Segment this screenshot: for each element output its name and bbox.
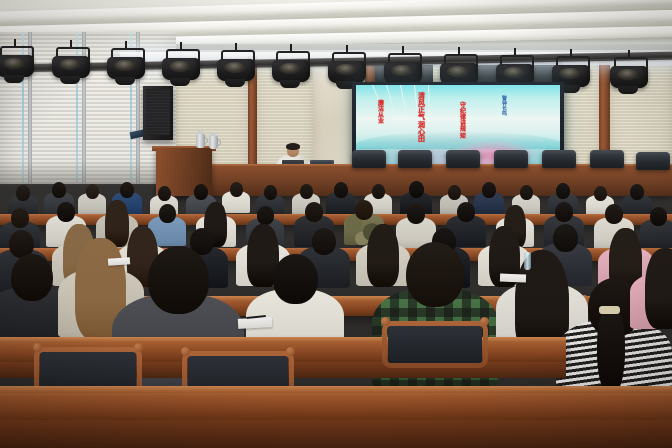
desk-row	[0, 390, 672, 424]
screen-text-column-4: 警 钟 长 鸣	[502, 97, 507, 117]
attendee-head	[594, 186, 607, 201]
hair-tie	[599, 306, 620, 314]
attendee-head	[406, 242, 464, 307]
screen-text-column-1: 廉 洁 从 业	[378, 101, 384, 125]
attendee-head	[52, 182, 66, 198]
attendee-head	[409, 181, 424, 198]
thermos-flask	[196, 134, 205, 148]
notebook	[238, 317, 272, 329]
attendee-head	[482, 182, 496, 198]
attendee-head	[264, 185, 277, 200]
audience-chair	[388, 326, 482, 366]
notebook	[500, 274, 526, 283]
conference-hall-photo: 廉 洁 从 业 清 风 正 气 润 心 田 守 纪 律 讲 规 矩 警 钟 长 …	[0, 0, 672, 448]
blinds-shadow	[0, 160, 176, 186]
screen-text-column-3: 守 纪 律 讲 规 矩	[460, 103, 466, 140]
executive-chair	[446, 150, 480, 168]
speaker-grille	[146, 89, 170, 135]
attendee-ponytail	[597, 308, 625, 397]
attendee-head	[230, 182, 243, 197]
executive-chair	[494, 150, 528, 168]
attendee-head	[650, 207, 667, 226]
attendee-head	[148, 246, 209, 314]
attendee-head	[556, 183, 570, 199]
attendee-head	[355, 200, 373, 220]
attendee-head	[16, 185, 30, 201]
attendee-long-hair	[645, 248, 672, 329]
attendee-head	[57, 202, 75, 222]
attendee-head	[630, 184, 644, 200]
executive-chair	[542, 150, 576, 168]
desk-edge	[0, 386, 672, 393]
attendee-head	[457, 202, 475, 222]
attendee-head	[300, 184, 313, 199]
attendee-head	[120, 182, 134, 198]
attendee-head	[312, 228, 336, 255]
attendee-head	[305, 202, 323, 222]
attendee-head	[194, 184, 208, 200]
attendee-head	[86, 184, 99, 199]
attendee-long-hair	[367, 224, 399, 287]
attendee-head	[158, 186, 171, 201]
attendee-head	[11, 208, 29, 228]
attendee-head	[407, 204, 425, 224]
attendee-head	[273, 254, 318, 304]
attendee-head	[605, 204, 623, 224]
attendee-head	[11, 254, 53, 301]
attendee-head	[159, 204, 176, 223]
water-bottle	[524, 252, 531, 270]
attendee-head	[448, 185, 461, 200]
attendee-head	[555, 202, 573, 222]
attendee-head	[520, 185, 533, 200]
screen-text-column-2: 清 风 正 气 润 心 田	[418, 93, 425, 143]
attendee-head	[257, 206, 274, 225]
attendee-head	[334, 182, 348, 198]
thermos-flask	[209, 136, 218, 149]
attendee-head	[372, 184, 385, 199]
executive-chair	[590, 150, 624, 168]
executive-chair	[398, 150, 432, 168]
executive-chair	[352, 150, 386, 168]
executive-chair	[636, 152, 670, 170]
desk-front-panel	[0, 420, 672, 448]
attendee-head	[553, 224, 578, 252]
